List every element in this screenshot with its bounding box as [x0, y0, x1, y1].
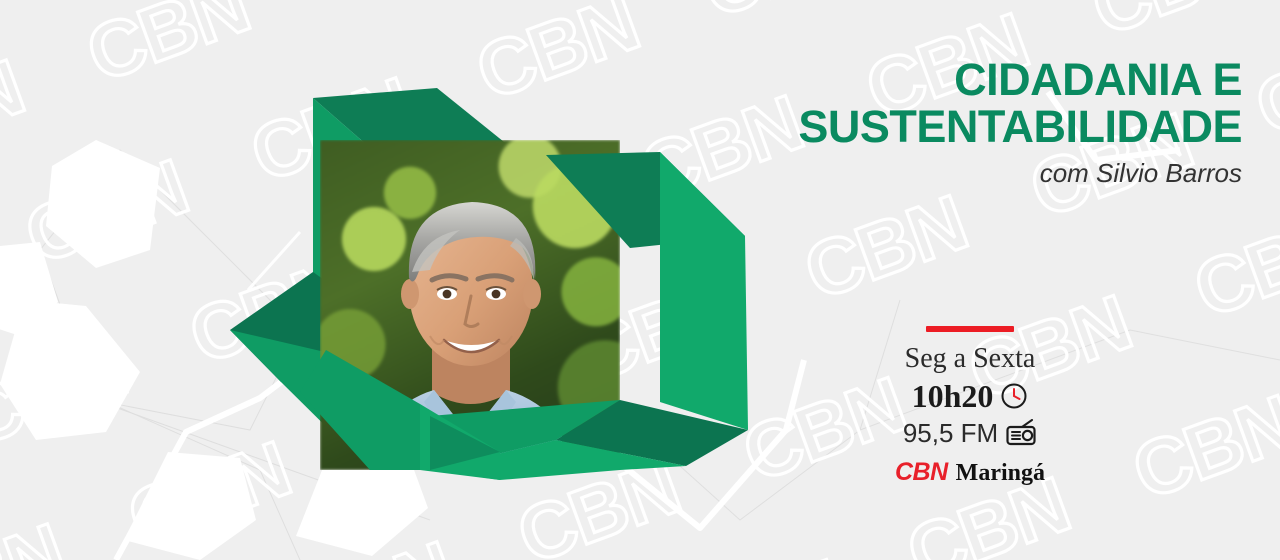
show-host-subtitle: com Silvio Barros — [798, 158, 1242, 189]
broadcast-time: 10h20 — [912, 378, 994, 414]
broadcast-days: Seg a Sexta — [880, 344, 1060, 374]
radio-show-banner: CBN — [0, 0, 1280, 560]
station-city-name: Maringá — [956, 460, 1045, 487]
show-title-line-2: SUSTENTABILIDADE — [798, 103, 1242, 150]
station-network-name: CBN — [895, 458, 948, 487]
broadcast-time-row: 10h20 — [880, 378, 1060, 414]
station-logo: CBN Maringá — [880, 458, 1060, 487]
clock-icon — [1000, 382, 1028, 410]
show-title-block: CIDADANIA E SUSTENTABILIDADE com Silvio … — [798, 56, 1242, 189]
red-accent-bar — [926, 326, 1014, 332]
show-title-line-1: CIDADANIA E — [798, 56, 1242, 103]
schedule-info-block: Seg a Sexta 10h20 95,5 FM — [880, 326, 1060, 487]
broadcast-frequency: 95,5 FM — [903, 418, 998, 448]
broadcast-frequency-row: 95,5 FM — [880, 418, 1060, 448]
radio-icon — [1005, 419, 1037, 447]
